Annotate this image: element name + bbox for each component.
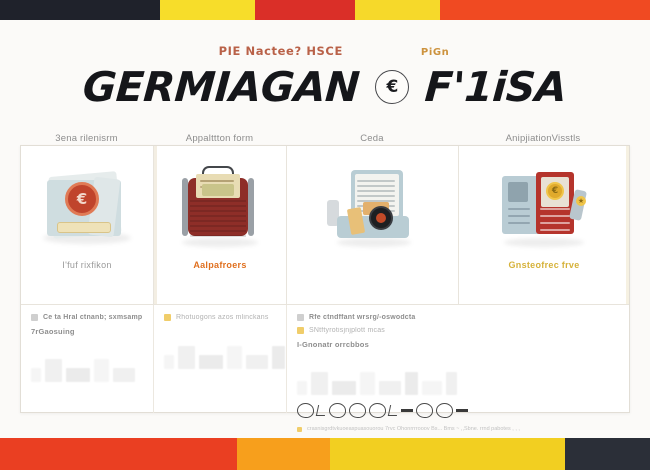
glyph-shape-icon: [297, 381, 307, 395]
glyph-shape-icon: [178, 346, 195, 369]
glyph-shape-icon: [66, 368, 90, 382]
glyph-strip: [31, 340, 143, 382]
info-footer-line: crasnisgrdtvkuoeaspuasouorou 7rvc Ohonrr…: [297, 426, 619, 432]
info-sub-label: I-Gnonatr orrcbbos: [297, 340, 619, 349]
grey-bullet-icon: [297, 314, 304, 321]
card-code-card[interactable]: [287, 146, 459, 304]
card-caption-1: Aalpafroers: [193, 260, 246, 270]
info-line-text: SNtftyrotisjnjplott mcas: [309, 327, 385, 334]
flag-band-yellow: [160, 0, 255, 20]
gold-bullet-icon: [297, 427, 302, 432]
scrawl-mark-icon: [297, 403, 314, 418]
card-caption-3: Gnsteofrec frve: [508, 260, 579, 270]
info-col-2: Rhotuogons azos mlinckans: [154, 305, 287, 413]
header-kicker-right: PiGn: [421, 47, 449, 58]
flag-band-red: [0, 438, 237, 470]
scrawl-mark-icon: [436, 403, 453, 418]
scrawl-mark-icon: [401, 409, 413, 412]
flag-band-yellow2: [355, 0, 440, 20]
scrawl-mark-icon: [349, 403, 366, 418]
scrawl-mark-icon: [456, 409, 468, 412]
glyph-shape-icon: [45, 359, 62, 382]
info-line: Rfe ctndffant wrsrg/-oswodcta: [297, 314, 619, 321]
info-line-text: Rhotuogons azos mlinckans: [176, 314, 269, 321]
glyph-shape-icon: [360, 372, 375, 395]
bottom-flag-strip: [0, 438, 650, 470]
top-flag-strip: [0, 0, 650, 20]
glyph-shape-icon: [332, 381, 356, 395]
main-panel: €I'fuf rixfikonAalpafroers €★Gnsteofrec …: [20, 145, 630, 413]
page-title: GERMIAGAN € F'1iSA: [83, 63, 567, 111]
scrawl-mark-icon: [369, 403, 386, 418]
info-region: Ce ta Hral ctnanb; sxmsamp ycaas7rGaosui…: [21, 304, 629, 413]
form-sheet-with-stamp-icon: [321, 160, 425, 252]
document-stack-with-seal-icon: €: [35, 160, 139, 252]
scrawl-mark-icon: [316, 405, 327, 416]
flag-band-orange: [237, 438, 330, 470]
gold-bullet-icon: [297, 327, 304, 334]
scrawl-mark-icon: [416, 403, 433, 418]
info-line-text: Rfe ctndffant wrsrg/-oswodcta: [309, 314, 416, 321]
header-kicker-row: PIE Nactee? HSCE PiGn: [0, 44, 650, 58]
card-documents-card[interactable]: €I'fuf rixfikon: [21, 146, 154, 304]
glyph-shape-icon: [199, 355, 223, 369]
handwriting-scrawl-row: [297, 397, 619, 423]
page-header: PIE Nactee? HSCE PiGn GERMIAGAN € F'1iSA: [0, 20, 650, 135]
glyph-shape-icon: [94, 359, 109, 382]
glyph-shape-icon: [379, 381, 401, 395]
title-left-text: GERMIAGAN: [82, 63, 362, 111]
glyph-shape-icon: [422, 381, 442, 395]
euro-seal-icon: €: [375, 70, 409, 104]
glyph-shape-icon: [164, 355, 174, 369]
flag-band-orange: [440, 0, 650, 20]
glyph-shape-icon: [31, 368, 41, 382]
card-visa-passport-card[interactable]: €★Gnsteofrec frve: [459, 146, 629, 304]
info-line: Rhotuogons azos mlinckans: [164, 314, 276, 321]
glyph-shape-icon: [446, 372, 457, 395]
cards-row: €I'fuf rixfikonAalpafroers €★Gnsteofrec …: [21, 146, 629, 304]
scrawl-mark-icon: [388, 405, 399, 416]
info-line-text: Ce ta Hral ctnanb; sxmsamp ycaas: [43, 314, 143, 321]
glyph-strip: [164, 327, 276, 369]
info-sub-label: 7rGaosuing: [31, 327, 143, 336]
glyph-strip: [297, 353, 619, 395]
grey-bullet-icon: [31, 314, 38, 321]
title-right-text: F'1iSA: [424, 63, 569, 111]
info-line: SNtftyrotisjnjplott mcas: [297, 327, 619, 334]
card-application-form-card[interactable]: Aalpafroers: [154, 146, 287, 304]
glyph-shape-icon: [246, 355, 268, 369]
glyph-shape-icon: [311, 372, 328, 395]
suitcase-with-papers-icon: [168, 160, 272, 252]
header-kicker-left: PIE Nactee? HSCE: [219, 44, 343, 58]
gold-bullet-icon: [164, 314, 171, 321]
info-col-1: Ce ta Hral ctnanb; sxmsamp ycaas7rGaosui…: [21, 305, 154, 413]
open-passport-with-gold-seal-icon: €★: [492, 160, 596, 252]
glyph-shape-icon: [405, 372, 418, 395]
glyph-shape-icon: [272, 346, 285, 369]
info-col-3: Rfe ctndffant wrsrg/-oswodctaSNtftyrotis…: [287, 305, 629, 413]
flag-band-dark: [565, 438, 650, 470]
glyph-shape-icon: [227, 346, 242, 369]
info-footer-text: crasnisgrdtvkuoeaspuasouorou 7rvc Ohonrr…: [307, 426, 520, 432]
info-line: Ce ta Hral ctnanb; sxmsamp ycaas: [31, 314, 143, 321]
scrawl-mark-icon: [329, 403, 346, 418]
flag-band-yellow: [330, 438, 565, 470]
flag-band-black: [0, 0, 160, 20]
flag-band-red: [255, 0, 355, 20]
glyph-shape-icon: [113, 368, 135, 382]
card-caption-0: I'fuf rixfikon: [62, 260, 111, 270]
